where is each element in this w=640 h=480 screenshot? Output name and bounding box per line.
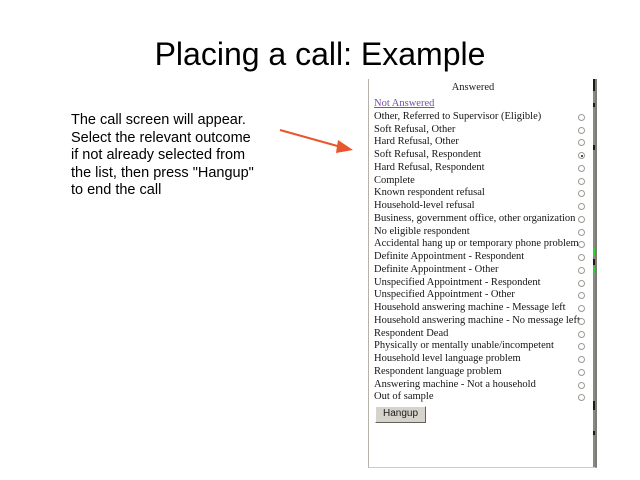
- list-item[interactable]: No eligible respondent: [369, 226, 597, 239]
- caption-line: to end the call: [71, 182, 276, 200]
- radio-button[interactable]: [578, 394, 585, 401]
- radio-button[interactable]: [578, 241, 585, 248]
- radio-button[interactable]: [578, 318, 585, 325]
- list-item[interactable]: Household answering machine - No message…: [369, 315, 597, 328]
- radio-button[interactable]: [578, 139, 585, 146]
- radio-button[interactable]: [578, 165, 585, 172]
- caption-line: The call screen will appear.: [71, 112, 276, 130]
- radio-button[interactable]: [578, 127, 585, 134]
- outcome-label: Physically or mentally unable/incompeten…: [374, 340, 554, 353]
- list-item[interactable]: Answering machine - Not a household: [369, 379, 597, 392]
- slide-canvas: Placing a call: Example The call screen …: [0, 0, 640, 480]
- radio-button[interactable]: [578, 203, 585, 210]
- list-item[interactable]: Respondent Dead: [369, 328, 597, 341]
- radio-button[interactable]: [578, 356, 585, 363]
- caption-line: Select the relevant outcome: [71, 130, 276, 148]
- list-item[interactable]: Out of sample: [369, 391, 597, 404]
- outcome-label: No eligible respondent: [374, 226, 470, 239]
- call-outcome-list[interactable]: Not Answered Other, Referred to Supervis…: [369, 98, 597, 404]
- outcome-label: Known respondent refusal: [374, 187, 485, 200]
- not-answered-link[interactable]: Not Answered: [374, 98, 434, 111]
- list-item[interactable]: Household answering machine - Message le…: [369, 302, 597, 315]
- outcome-label: Household answering machine - No message…: [374, 315, 580, 328]
- list-item[interactable]: Hard Refusal, Other: [369, 136, 597, 149]
- outcome-label: Soft Refusal, Other: [374, 124, 455, 137]
- outcome-label: Answering machine - Not a household: [374, 379, 536, 392]
- caption-line: if not already selected from: [71, 147, 276, 165]
- list-item[interactable]: Definite Appointment - Other: [369, 264, 597, 277]
- outcome-label: Respondent Dead: [374, 328, 448, 341]
- radio-button[interactable]: [578, 292, 585, 299]
- instruction-caption: The call screen will appear.Select the r…: [71, 112, 276, 200]
- radio-button[interactable]: [578, 229, 585, 236]
- radio-button[interactable]: [578, 305, 585, 312]
- outcome-label: Household-level refusal: [374, 200, 475, 213]
- radio-button[interactable]: [578, 343, 585, 350]
- outcome-label: Business, government office, other organ…: [374, 213, 575, 226]
- outcome-label: Household answering machine - Message le…: [374, 302, 566, 315]
- radio-button[interactable]: [578, 254, 585, 261]
- list-item[interactable]: Unspecified Appointment - Other: [369, 289, 597, 302]
- list-item[interactable]: Soft Refusal, Respondent: [369, 149, 597, 162]
- list-item[interactable]: Accidental hang up or temporary phone pr…: [369, 238, 597, 251]
- list-item[interactable]: Soft Refusal, Other: [369, 124, 597, 137]
- panel-scroll-rail[interactable]: [593, 79, 595, 468]
- radio-button[interactable]: [578, 382, 585, 389]
- list-item[interactable]: Household level language problem: [369, 353, 597, 366]
- answered-column-header: Answered: [369, 82, 577, 93]
- call-outcome-panel: Answered Not Answered Other, Referred to…: [368, 79, 597, 468]
- list-item[interactable]: Business, government office, other organ…: [369, 213, 597, 226]
- list-item[interactable]: Physically or mentally unable/incompeten…: [369, 340, 597, 353]
- radio-button-selected[interactable]: [578, 152, 585, 159]
- list-item-not-answered[interactable]: Not Answered: [369, 98, 597, 111]
- radio-button[interactable]: [578, 216, 585, 223]
- outcome-label: Unspecified Appointment - Respondent: [374, 277, 541, 290]
- radio-button[interactable]: [578, 331, 585, 338]
- hangup-button[interactable]: Hangup: [375, 406, 426, 423]
- list-item[interactable]: Household-level refusal: [369, 200, 597, 213]
- outcome-label: Other, Referred to Supervisor (Eligible): [374, 111, 541, 124]
- list-item[interactable]: Other, Referred to Supervisor (Eligible): [369, 111, 597, 124]
- list-item[interactable]: Definite Appointment - Respondent: [369, 251, 597, 264]
- list-item[interactable]: Unspecified Appointment - Respondent: [369, 277, 597, 290]
- outcome-label: Complete: [374, 175, 415, 188]
- pointer-arrow-icon: [275, 120, 360, 162]
- list-item[interactable]: Hard Refusal, Respondent: [369, 162, 597, 175]
- outcome-label: Respondent language problem: [374, 366, 502, 379]
- outcome-label: Out of sample: [374, 391, 434, 404]
- caption-line: the list, then press "Hangup": [71, 165, 276, 183]
- list-item[interactable]: Complete: [369, 175, 597, 188]
- outcome-label: Definite Appointment - Respondent: [374, 251, 524, 264]
- radio-button[interactable]: [578, 369, 585, 376]
- list-item[interactable]: Known respondent refusal: [369, 187, 597, 200]
- outcome-label: Soft Refusal, Respondent: [374, 149, 481, 162]
- outcome-label: Hard Refusal, Other: [374, 136, 459, 149]
- outcome-label: Accidental hang up or temporary phone pr…: [374, 238, 579, 251]
- radio-button[interactable]: [578, 190, 585, 197]
- outcome-label: Definite Appointment - Other: [374, 264, 499, 277]
- radio-button[interactable]: [578, 280, 585, 287]
- list-item[interactable]: Respondent language problem: [369, 366, 597, 379]
- radio-button[interactable]: [578, 114, 585, 121]
- outcome-label: Hard Refusal, Respondent: [374, 162, 485, 175]
- radio-button[interactable]: [578, 178, 585, 185]
- radio-button[interactable]: [578, 267, 585, 274]
- page-title: Placing a call: Example: [0, 36, 640, 73]
- outcome-label: Unspecified Appointment - Other: [374, 289, 515, 302]
- outcome-label: Household level language problem: [374, 353, 521, 366]
